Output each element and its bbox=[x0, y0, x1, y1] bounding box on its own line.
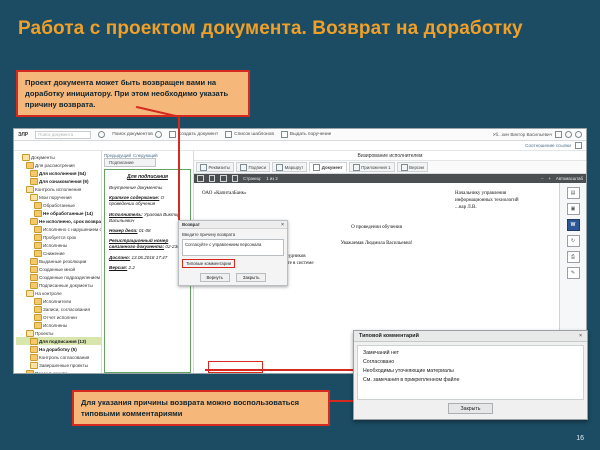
return-dialog-footer: Вернуть Закрыть bbox=[179, 271, 287, 285]
tree-item[interactable]: Обработанные bbox=[16, 201, 101, 209]
thumbnails-icon[interactable] bbox=[197, 175, 204, 182]
summary-line: Регистрационный номер связанного докумен… bbox=[109, 238, 186, 250]
reason-label: Введите причину возврата bbox=[182, 232, 284, 237]
task-icon bbox=[281, 131, 288, 138]
pen-icon bbox=[240, 164, 247, 171]
magnifier-icon bbox=[155, 131, 162, 138]
navigation-tree[interactable]: -ДокументыДля рассмотренияДля исполнения… bbox=[14, 151, 102, 374]
pages-label: Страниц: bbox=[243, 176, 261, 181]
folder-icon bbox=[30, 266, 38, 273]
tree-item[interactable]: Не обработанные (14) bbox=[16, 209, 101, 217]
app-subbar: Соотношение ссылки bbox=[14, 141, 586, 151]
folder-icon bbox=[30, 282, 38, 289]
user-area[interactable]: Уб...кин Виктор Васильевич bbox=[493, 131, 582, 138]
tree-item-label: Для подписания (13) bbox=[39, 339, 86, 344]
user-name: Уб...кин Виктор Васильевич bbox=[493, 132, 552, 137]
typical-comment-item[interactable]: Замечаний нет bbox=[358, 348, 583, 357]
tree-item[interactable]: Исполнители bbox=[16, 297, 101, 305]
doc-tab-versions[interactable]: Версии bbox=[397, 162, 428, 172]
tree-item-label: Исполнители bbox=[43, 299, 71, 304]
tree-item[interactable]: Не исполнено, срок возврата bbox=[16, 217, 101, 225]
tree-item-label: Выданные резолюции bbox=[39, 259, 86, 264]
document-icon bbox=[313, 164, 320, 171]
addressee-line-2: информационных технологий bbox=[455, 198, 551, 205]
tree-item-label: Контроль исполнения bbox=[35, 187, 81, 192]
folder-icon bbox=[30, 194, 38, 201]
tree-expander-icon[interactable]: - bbox=[24, 363, 28, 368]
tree-item-label: Завершенные проекты bbox=[39, 363, 88, 368]
folder-icon bbox=[34, 202, 42, 209]
tree-expander-icon[interactable]: - bbox=[20, 331, 24, 336]
tree-item-label: Обработанные bbox=[43, 203, 75, 208]
summary-line: Номер дела: 01-08 bbox=[109, 228, 186, 234]
typical-comments-title: Типовой комментарий bbox=[359, 333, 419, 339]
summary-line-value: 13.06.2018 17:47 bbox=[130, 255, 167, 260]
summary-line-value: Внутренние документы bbox=[109, 185, 162, 190]
tree-item[interactable]: Записи, согласования bbox=[16, 305, 101, 313]
tree-item-label: Созданные подразделением bbox=[39, 275, 100, 280]
tree-item[interactable]: Выданные резолюции bbox=[16, 257, 101, 265]
summary-line-value: 2.2 bbox=[127, 265, 135, 270]
folder-icon bbox=[30, 362, 38, 369]
tree-item-label: Поиск в архиве bbox=[35, 371, 68, 375]
tree-item[interactable]: Исполнены bbox=[16, 321, 101, 329]
tree-item[interactable]: Исполнены bbox=[16, 241, 101, 249]
tree-item[interactable]: -Документы bbox=[16, 153, 101, 161]
tree-item-label: Документы bbox=[31, 155, 55, 160]
tree-expander-icon[interactable]: - bbox=[20, 187, 24, 192]
return-confirm-button[interactable]: Вернуть bbox=[200, 273, 230, 282]
tree-item[interactable]: -На контроле bbox=[16, 289, 101, 297]
summary-line: Внутренние документы bbox=[109, 185, 186, 191]
summary-line-label: Дослано: bbox=[109, 255, 130, 260]
search-placeholder: Поиск документа bbox=[38, 132, 73, 137]
return-dialog-title: Возврат bbox=[182, 222, 200, 227]
folder-icon bbox=[34, 322, 42, 329]
folder-icon bbox=[30, 346, 38, 353]
tree-item-label: На контроле bbox=[35, 291, 62, 296]
return-cancel-button[interactable]: Закрыть bbox=[236, 273, 267, 282]
letter-organization: ОАО «КапиталБанк» bbox=[202, 191, 247, 211]
doc-tab-label: Маршрут bbox=[285, 165, 304, 170]
typical-comments-dialog: Типовой комментарий × Замечаний нетСогла… bbox=[353, 330, 588, 420]
folder-icon bbox=[34, 314, 42, 321]
folder-icon bbox=[34, 234, 42, 241]
toolbar-item-create-document[interactable]: Создать документ bbox=[169, 131, 218, 138]
tree-item[interactable]: Для ознакомления (9) bbox=[16, 177, 101, 185]
close-icon[interactable]: × bbox=[281, 222, 284, 228]
zoom-out-button[interactable]: − bbox=[541, 176, 544, 181]
typical-comments-close-button[interactable]: Закрыть bbox=[448, 403, 494, 414]
search-icon[interactable] bbox=[209, 175, 216, 182]
tree-item[interactable]: Для подписания (13) bbox=[16, 337, 101, 345]
tree-item-label: Для исполнения (54) bbox=[39, 171, 86, 176]
tree-expander-icon[interactable]: - bbox=[24, 195, 28, 200]
tree-item-label: Подписанные документы bbox=[39, 283, 93, 288]
folder-icon bbox=[34, 298, 42, 305]
tree-item-label: Мои поручения bbox=[39, 195, 72, 200]
callout-bottom: Для указания причины возврата можно восп… bbox=[72, 390, 330, 426]
pdf-toolbar[interactable]: Страниц: 1 из 2 − + Автомасштаб bbox=[194, 174, 586, 183]
toolbar-item-template-list[interactable]: Список шаблонов bbox=[225, 131, 274, 138]
hand-tool-icon[interactable] bbox=[232, 175, 239, 182]
app-toolbar: ЭЛР Поиск документа Поиск документов Соз… bbox=[14, 129, 586, 141]
doc-tab-route[interactable]: Маршрут bbox=[272, 162, 307, 172]
tree-expander-icon[interactable]: - bbox=[20, 291, 24, 296]
tree-item[interactable]: Поиск в архиве bbox=[16, 369, 101, 374]
leader-line-bottom-to-button bbox=[205, 369, 357, 371]
search-input[interactable]: Поиск документа bbox=[35, 131, 91, 139]
tree-item[interactable]: -Мои поручения bbox=[16, 193, 101, 201]
attachment-icon bbox=[353, 164, 360, 171]
form-icon bbox=[200, 164, 207, 171]
typical-comments-footer: Закрыть bbox=[354, 403, 587, 419]
save-as-icon[interactable]: ▣ bbox=[567, 203, 580, 215]
document-header: Визирование исполнителем bbox=[194, 151, 586, 161]
folder-icon bbox=[26, 186, 34, 193]
tree-item-label: Исполнены bbox=[43, 323, 67, 328]
power-icon[interactable] bbox=[575, 131, 582, 138]
fit-label[interactable]: Автомасштаб bbox=[556, 176, 583, 181]
tree-item[interactable]: Контроль согласования bbox=[16, 353, 101, 361]
toolbar-item-issue-task[interactable]: Выдать поручение bbox=[281, 131, 331, 138]
tab-signing[interactable]: Подписание bbox=[104, 158, 156, 167]
tree-item[interactable]: -Контроль исполнения bbox=[16, 185, 101, 193]
summary-line: Краткое содержание: О проведении обучени… bbox=[109, 195, 186, 207]
page-title: Работа с проектом документа. Возврат на … bbox=[18, 18, 523, 40]
toolbar-item-search-documents[interactable]: Поиск документов bbox=[112, 131, 162, 138]
doc-tab-label: Документ bbox=[322, 165, 343, 170]
doc-tab-label: Подписи bbox=[249, 165, 267, 170]
save-icon[interactable]: ▤ bbox=[567, 187, 580, 199]
tree-item[interactable]: -Проекты bbox=[16, 329, 101, 337]
toolbar-label: Поиск документов bbox=[112, 132, 153, 137]
tree-item-label: Контроль согласования bbox=[39, 355, 89, 360]
summary-line-label: Версия: bbox=[109, 265, 127, 270]
folder-icon bbox=[26, 330, 34, 337]
leader-line-top-vertical bbox=[178, 118, 180, 230]
tree-item[interactable]: Исполнено с нарушением срока bbox=[16, 225, 101, 233]
typical-comment-item[interactable]: См. замечания в прикрепленном файле bbox=[358, 376, 583, 385]
tree-item-label: Не исполнено, срок возврата bbox=[39, 219, 102, 224]
tree-expander-icon[interactable]: - bbox=[16, 155, 20, 160]
typical-comments-titlebar: Типовой комментарий × bbox=[354, 331, 587, 342]
callout-top: Проект документа может быть возвращен ва… bbox=[16, 70, 250, 117]
return-dialog-titlebar: Возврат × bbox=[179, 221, 287, 229]
summary-line: Версия: 2.2 bbox=[109, 265, 186, 271]
refresh-icon[interactable]: ↻ bbox=[567, 235, 580, 247]
typical-comments-link[interactable]: Типовые комментарии bbox=[182, 259, 235, 268]
tree-item-label: Проекты bbox=[35, 331, 53, 336]
toolbar-label: Список шаблонов bbox=[234, 132, 274, 137]
word-icon[interactable]: W bbox=[567, 219, 580, 231]
tree-item[interactable]: Для рассмотрения bbox=[16, 161, 101, 169]
folder-icon bbox=[30, 178, 38, 185]
addressee-line-3: ...нар Л.В. bbox=[455, 205, 551, 212]
doc-tab-attachment[interactable]: Приложения 1 bbox=[349, 162, 395, 172]
reason-input[interactable]: Согласуйте с управлением персонала bbox=[182, 239, 284, 256]
edit-icon[interactable]: ✎ bbox=[567, 267, 580, 279]
folder-icon bbox=[34, 250, 42, 257]
summary-line: Исполнитель: Уралова Виктор Васильевич bbox=[109, 212, 186, 224]
doc-tab-label: Версии bbox=[409, 165, 424, 170]
doc-tab-form[interactable]: Реквизиты bbox=[196, 162, 234, 172]
folder-icon bbox=[34, 226, 42, 233]
tree-item-label: Созданные мной bbox=[39, 267, 75, 272]
toolbar-label: Выдать поручение bbox=[290, 132, 331, 137]
doc-tab-label: Приложения 1 bbox=[361, 165, 390, 170]
app-logo: ЭЛР bbox=[18, 132, 28, 138]
list-icon bbox=[225, 131, 232, 138]
chevron-down-icon[interactable] bbox=[555, 131, 562, 138]
summary-line: Дослано: 13.06.2018 17:47 bbox=[109, 255, 186, 261]
folder-icon bbox=[34, 242, 42, 249]
return-dialog-body: Введите причину возврата Согласуйте с уп… bbox=[179, 229, 287, 271]
tree-item[interactable]: Для исполнения (54) bbox=[16, 169, 101, 177]
document-tabs[interactable]: РеквизитыПодписиМаршрутДокументПриложени… bbox=[194, 161, 586, 174]
tree-item-label: Для ознакомления (9) bbox=[39, 179, 88, 184]
tree-item-label: Исполнены bbox=[43, 243, 67, 248]
search-icon[interactable] bbox=[98, 131, 105, 138]
tree-item[interactable]: -Завершенные проекты bbox=[16, 361, 101, 369]
page-value: 1 из 2 bbox=[266, 176, 278, 181]
folder-icon bbox=[34, 306, 42, 313]
folder-icon bbox=[30, 218, 38, 225]
folder-icon bbox=[26, 162, 34, 169]
summary-line-label: Исполнитель: bbox=[109, 212, 143, 217]
tree-item-label: Отчет исполнен bbox=[43, 315, 77, 320]
folder-icon bbox=[26, 370, 34, 375]
tree-item[interactable]: Отчет исполнен bbox=[16, 313, 101, 321]
tree-item[interactable]: Созданные подразделением bbox=[16, 273, 101, 281]
tree-item[interactable]: Созданные мной bbox=[16, 265, 101, 273]
tree-item[interactable]: Снижение bbox=[16, 249, 101, 257]
return-button-highlight bbox=[208, 361, 263, 373]
chevron-down-icon[interactable] bbox=[575, 142, 582, 149]
folder-icon bbox=[30, 274, 38, 281]
print-icon[interactable]: ⎙ bbox=[567, 251, 580, 263]
summary-line-label: Регистрационный номер связанного докумен… bbox=[109, 238, 168, 249]
tree-item-label: Пробуется срок bbox=[43, 235, 76, 240]
letter-addressee: Начальнику управления информационных тех… bbox=[455, 191, 551, 211]
summary-line-label: Краткое содержание: bbox=[109, 195, 159, 200]
tree-item[interactable]: Подписанные документы bbox=[16, 281, 101, 289]
folder-icon bbox=[30, 354, 38, 361]
folder-icon bbox=[30, 170, 38, 177]
versions-icon bbox=[401, 164, 408, 171]
help-icon[interactable] bbox=[565, 131, 572, 138]
doc-tab-pen[interactable]: Подписи bbox=[236, 162, 270, 172]
select-tool-icon[interactable] bbox=[220, 175, 227, 182]
page-number: 16 bbox=[576, 435, 584, 442]
zoom-in-button[interactable]: + bbox=[548, 176, 551, 181]
folder-icon bbox=[30, 338, 38, 345]
tree-item-label: Записи, согласования bbox=[43, 307, 90, 312]
new-document-icon bbox=[169, 131, 176, 138]
settings-link[interactable]: Соотношение ссылки bbox=[525, 143, 571, 148]
typical-comment-item[interactable]: Согласовано bbox=[358, 357, 583, 366]
typical-comment-item[interactable]: Необходимы уточняющие материалы bbox=[358, 366, 583, 375]
folder-icon bbox=[34, 210, 42, 217]
summary-line-value: 01-08 bbox=[138, 228, 151, 233]
tree-item[interactable]: Пробуется срок bbox=[16, 233, 101, 241]
tree-item[interactable]: На доработку (5) bbox=[16, 345, 101, 353]
summary-card-title: Для подписания bbox=[109, 174, 186, 180]
folder-icon bbox=[30, 258, 38, 265]
tree-item-label: На доработку (5) bbox=[39, 347, 77, 352]
tree-item-label: Снижение bbox=[43, 251, 65, 256]
addressee-line-1: Начальнику управления bbox=[455, 191, 551, 198]
typical-comments-list[interactable]: Замечаний нетСогласованоНеобходимы уточн… bbox=[357, 345, 584, 400]
tree-item-label: Для рассмотрения bbox=[35, 163, 75, 168]
close-icon[interactable]: × bbox=[579, 333, 582, 339]
tree-item-label: Не обработанные (14) bbox=[43, 211, 93, 216]
return-reason-dialog: Возврат × Введите причину возврата Согла… bbox=[178, 220, 288, 286]
doc-tab-document[interactable]: Документ bbox=[309, 162, 346, 172]
folder-icon bbox=[26, 290, 34, 297]
route-icon bbox=[276, 164, 283, 171]
toolbar-label: Создать документ bbox=[178, 132, 218, 137]
doc-tab-label: Реквизиты bbox=[209, 165, 231, 170]
tree-item-label: Исполнено с нарушением срока bbox=[43, 227, 102, 232]
folder-icon bbox=[22, 154, 30, 161]
summary-line-label: Номер дела: bbox=[109, 228, 138, 233]
